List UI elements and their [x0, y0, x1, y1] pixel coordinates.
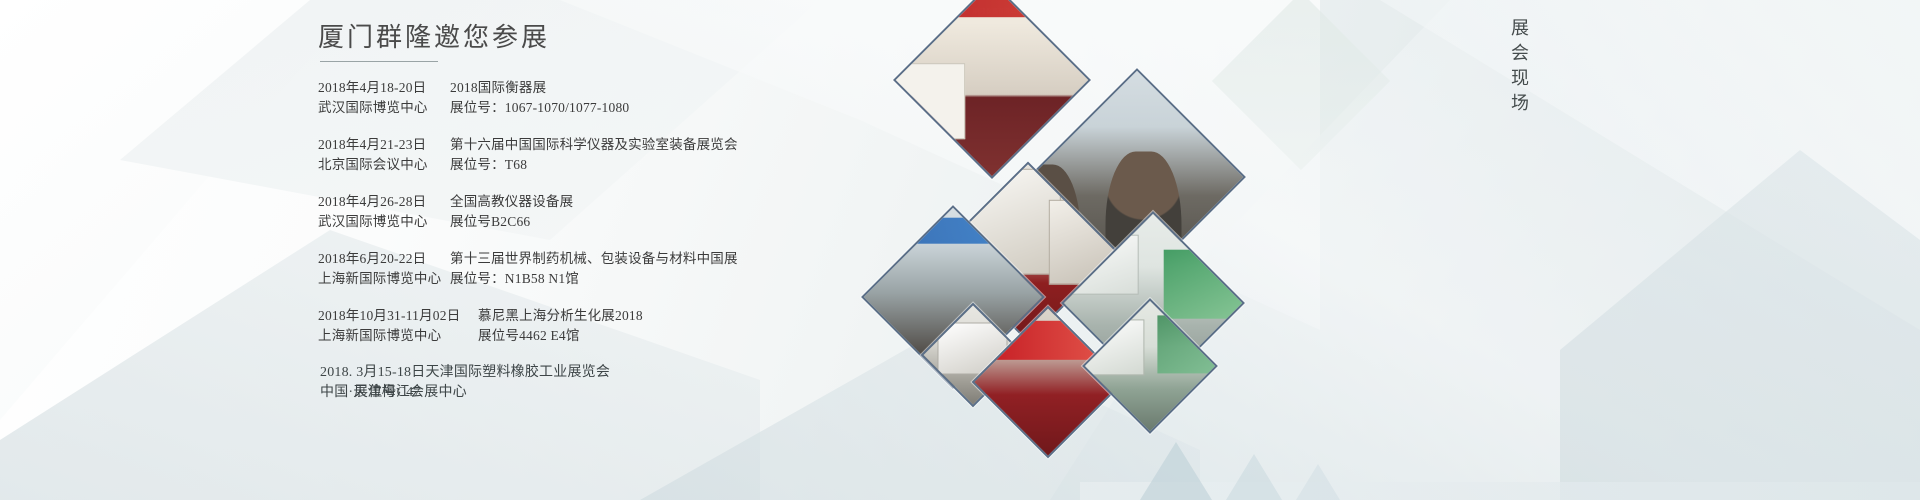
event-date: 2018. 3月15-18日天津国际塑料橡胶工业展览会 [320, 363, 610, 383]
vertical-label-text: 展会现场 [1508, 18, 1534, 118]
page-title: 厦门群隆邀您参展 [318, 22, 958, 53]
event-date: 2018年10月31-11月02日 [318, 306, 466, 326]
photo-banner-subtext: 厦门群隆仪器有限公司 [893, 6, 1091, 15]
event-venue: 武汉国际博览中心 [318, 212, 438, 232]
event-line-date: 2018年10月31-11月02日 慕尼黑上海分析生化展2018 [318, 306, 958, 326]
bg-facet-7 [1560, 150, 1920, 500]
photo-collage: 密度计&水分仪中国制 厦门群隆仪器有限公司 [1020, 0, 1500, 500]
event-item-1[interactable]: 2018年4月18-20日 2018国际衡器展 武汉国际博览中心 展位号：106… [318, 78, 958, 118]
event-line-date: 2018年4月21-23日 第十六届中国国际科学仪器及实验室装备展览会 [318, 135, 958, 155]
event-item-6[interactable]: 2018. 3月15-18日天津国际塑料橡胶工业展览会 中国·天津梅江会展中心 … [320, 363, 960, 403]
event-booth: 展位号4462 E4馆 [478, 326, 580, 346]
event-booth: 展位号：T68 [450, 155, 527, 175]
event-line-date: 2018年4月26-28日 全国高教仪器设备展 [318, 192, 958, 212]
event-line-venue: 上海新国际博览中心 展位号4462 E4馆 [318, 326, 958, 346]
event-venue: 武汉国际博览中心 [318, 98, 438, 118]
event-date: 2018年4月18-20日 [318, 78, 438, 98]
promo-banner: 厦门群隆邀您参展 2018年4月18-20日 2018国际衡器展 武汉国际博览中… [0, 0, 1920, 500]
event-date: 2018年6月20-22日 [318, 249, 438, 269]
event-line-venue: 武汉国际博览中心 展位号：1067-1070/1077-1080 [318, 98, 958, 118]
event-name: 第十六届中国国际科学仪器及实验室装备展览会 [450, 135, 738, 155]
event-item-3[interactable]: 2018年4月26-28日 全国高教仪器设备展 武汉国际博览中心 展位号B2C6… [318, 192, 958, 232]
event-line-venue: 中国·天津梅江会展中心 展位号C47 [320, 383, 960, 403]
event-booth: 展位号C47 [354, 383, 421, 403]
event-date: 2018年4月26-28日 [318, 192, 438, 212]
event-name: 第十三届世界制药机械、包装设备与材料中国展 [450, 249, 738, 269]
event-name: 全国高教仪器设备展 [450, 192, 573, 212]
event-line-date: 2018年6月20-22日 第十三届世界制药机械、包装设备与材料中国展 [318, 249, 958, 269]
event-date: 2018年4月21-23日 [318, 135, 438, 155]
event-booth: 展位号：N1B58 N1馆 [450, 269, 579, 289]
event-line-venue: 北京国际会议中心 展位号：T68 [318, 155, 958, 175]
event-item-5[interactable]: 2018年10月31-11月02日 慕尼黑上海分析生化展2018 上海新国际博览… [318, 306, 958, 346]
event-venue: 上海新国际博览中心 [318, 269, 438, 289]
event-list-panel: 厦门群隆邀您参展 2018年4月18-20日 2018国际衡器展 武汉国际博览中… [318, 22, 958, 420]
event-booth: 展位号B2C66 [450, 212, 530, 232]
event-name: 2018国际衡器展 [450, 78, 546, 98]
event-venue: 北京国际会议中心 [318, 155, 438, 175]
event-line-date: 2018. 3月15-18日天津国际塑料橡胶工业展览会 [320, 363, 960, 383]
event-booth: 展位号：1067-1070/1077-1080 [450, 98, 629, 118]
event-name: 慕尼黑上海分析生化展2018 [478, 306, 643, 326]
event-venue: 上海新国际博览中心 [318, 326, 466, 346]
event-item-2[interactable]: 2018年4月21-23日 第十六届中国国际科学仪器及实验室装备展览会 北京国际… [318, 135, 958, 175]
event-line-date: 2018年4月18-20日 2018国际衡器展 [318, 78, 958, 98]
event-item-4[interactable]: 2018年6月20-22日 第十三届世界制药机械、包装设备与材料中国展 上海新国… [318, 249, 958, 289]
event-line-venue: 上海新国际博览中心 展位号：N1B58 N1馆 [318, 269, 958, 289]
event-line-venue: 武汉国际博览中心 展位号B2C66 [318, 212, 958, 232]
title-underline [320, 61, 438, 62]
